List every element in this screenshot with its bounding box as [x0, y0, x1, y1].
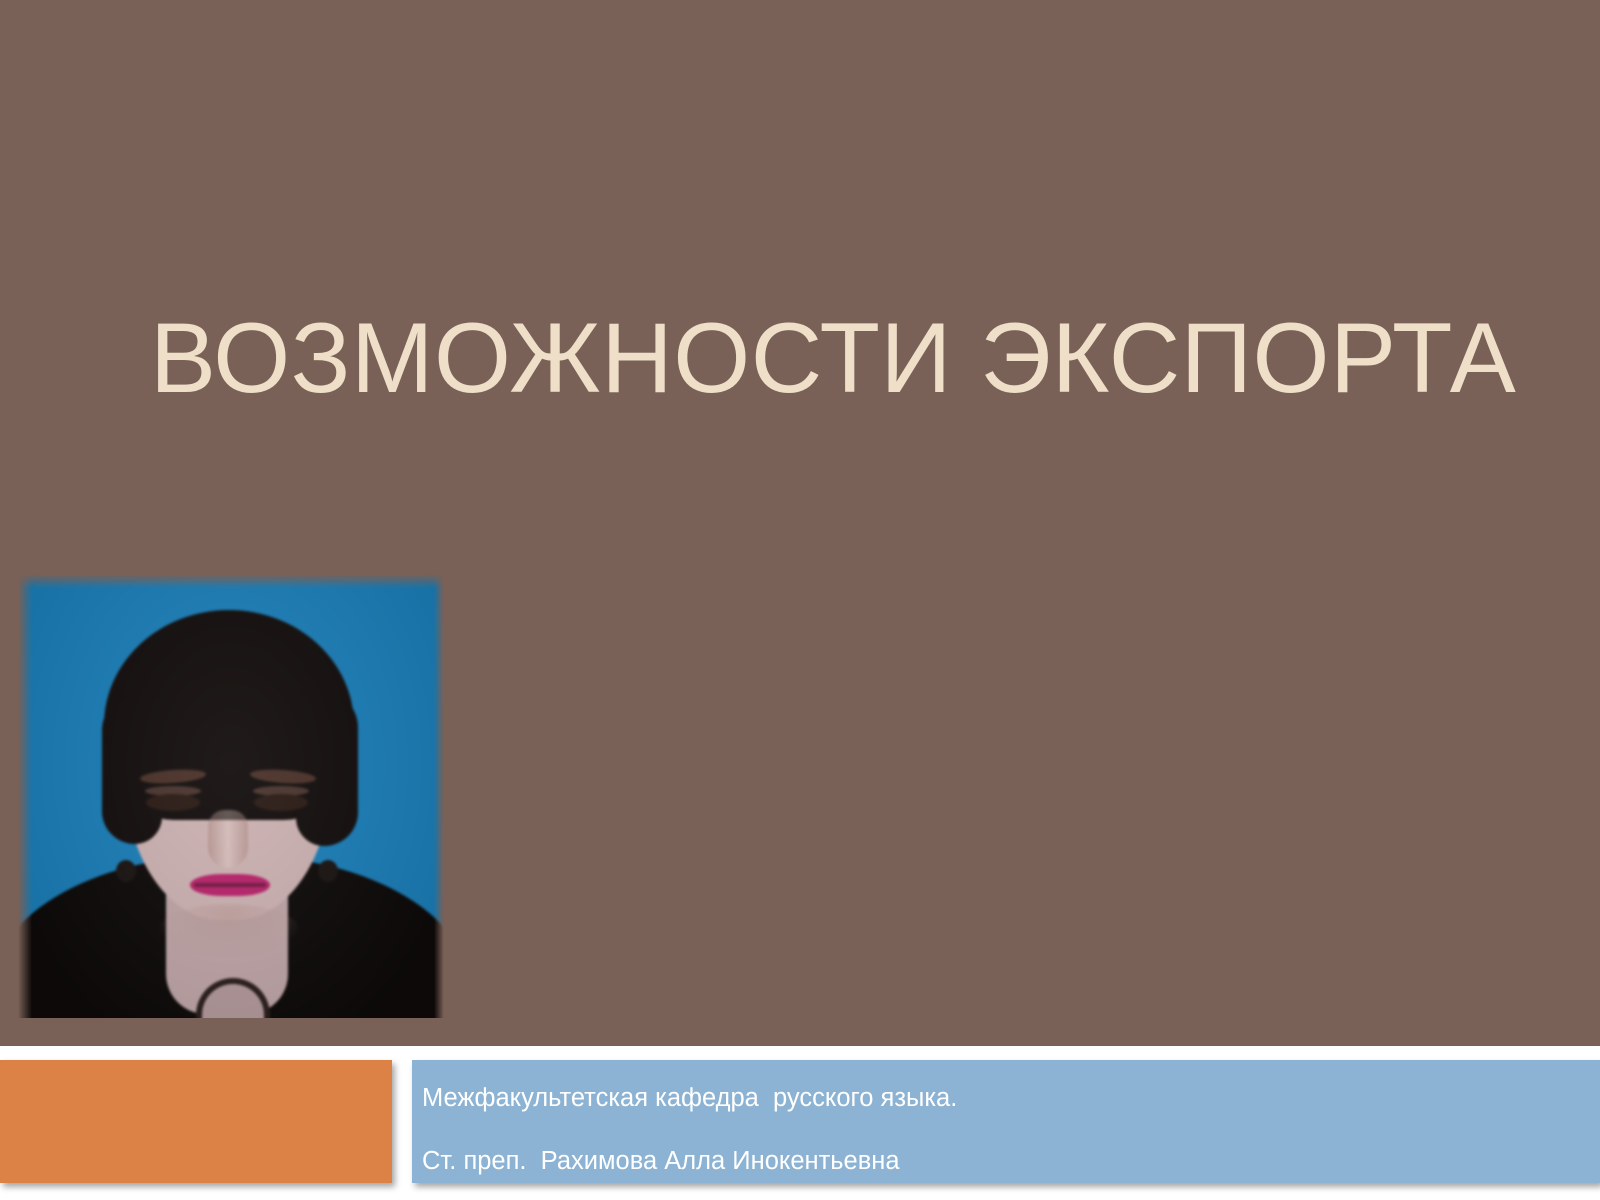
portrait-hair-left [102, 694, 162, 844]
portrait-photo-image [18, 574, 444, 1018]
portrait-hair-right [296, 690, 358, 846]
portrait-eye-left [146, 794, 200, 811]
portrait-eye-right [254, 794, 308, 811]
page-title: Возможности экспорта [150, 300, 1460, 417]
presentation-slide: Возможности экспорта Межфакульт [0, 0, 1600, 1200]
portrait-photo [18, 574, 444, 1018]
footer-caption-block: Межфакультетская кафедра русского языка.… [412, 1060, 1600, 1183]
portrait-lips [190, 874, 270, 896]
portrait-earring-left [116, 860, 136, 882]
footer-text-group: Межфакультетская кафедра русского языка.… [422, 1072, 1580, 1174]
portrait-nose [208, 810, 248, 868]
footer-line-department: Межфакультетская кафедра русского языка. [422, 1072, 1580, 1112]
footer-accent-block [0, 1060, 392, 1183]
footer-line-author: Ст. преп. Рахимова Алла Инокентьевна [422, 1112, 1580, 1175]
portrait-earring-right [318, 860, 338, 882]
portrait-chin-shading [158, 904, 300, 958]
